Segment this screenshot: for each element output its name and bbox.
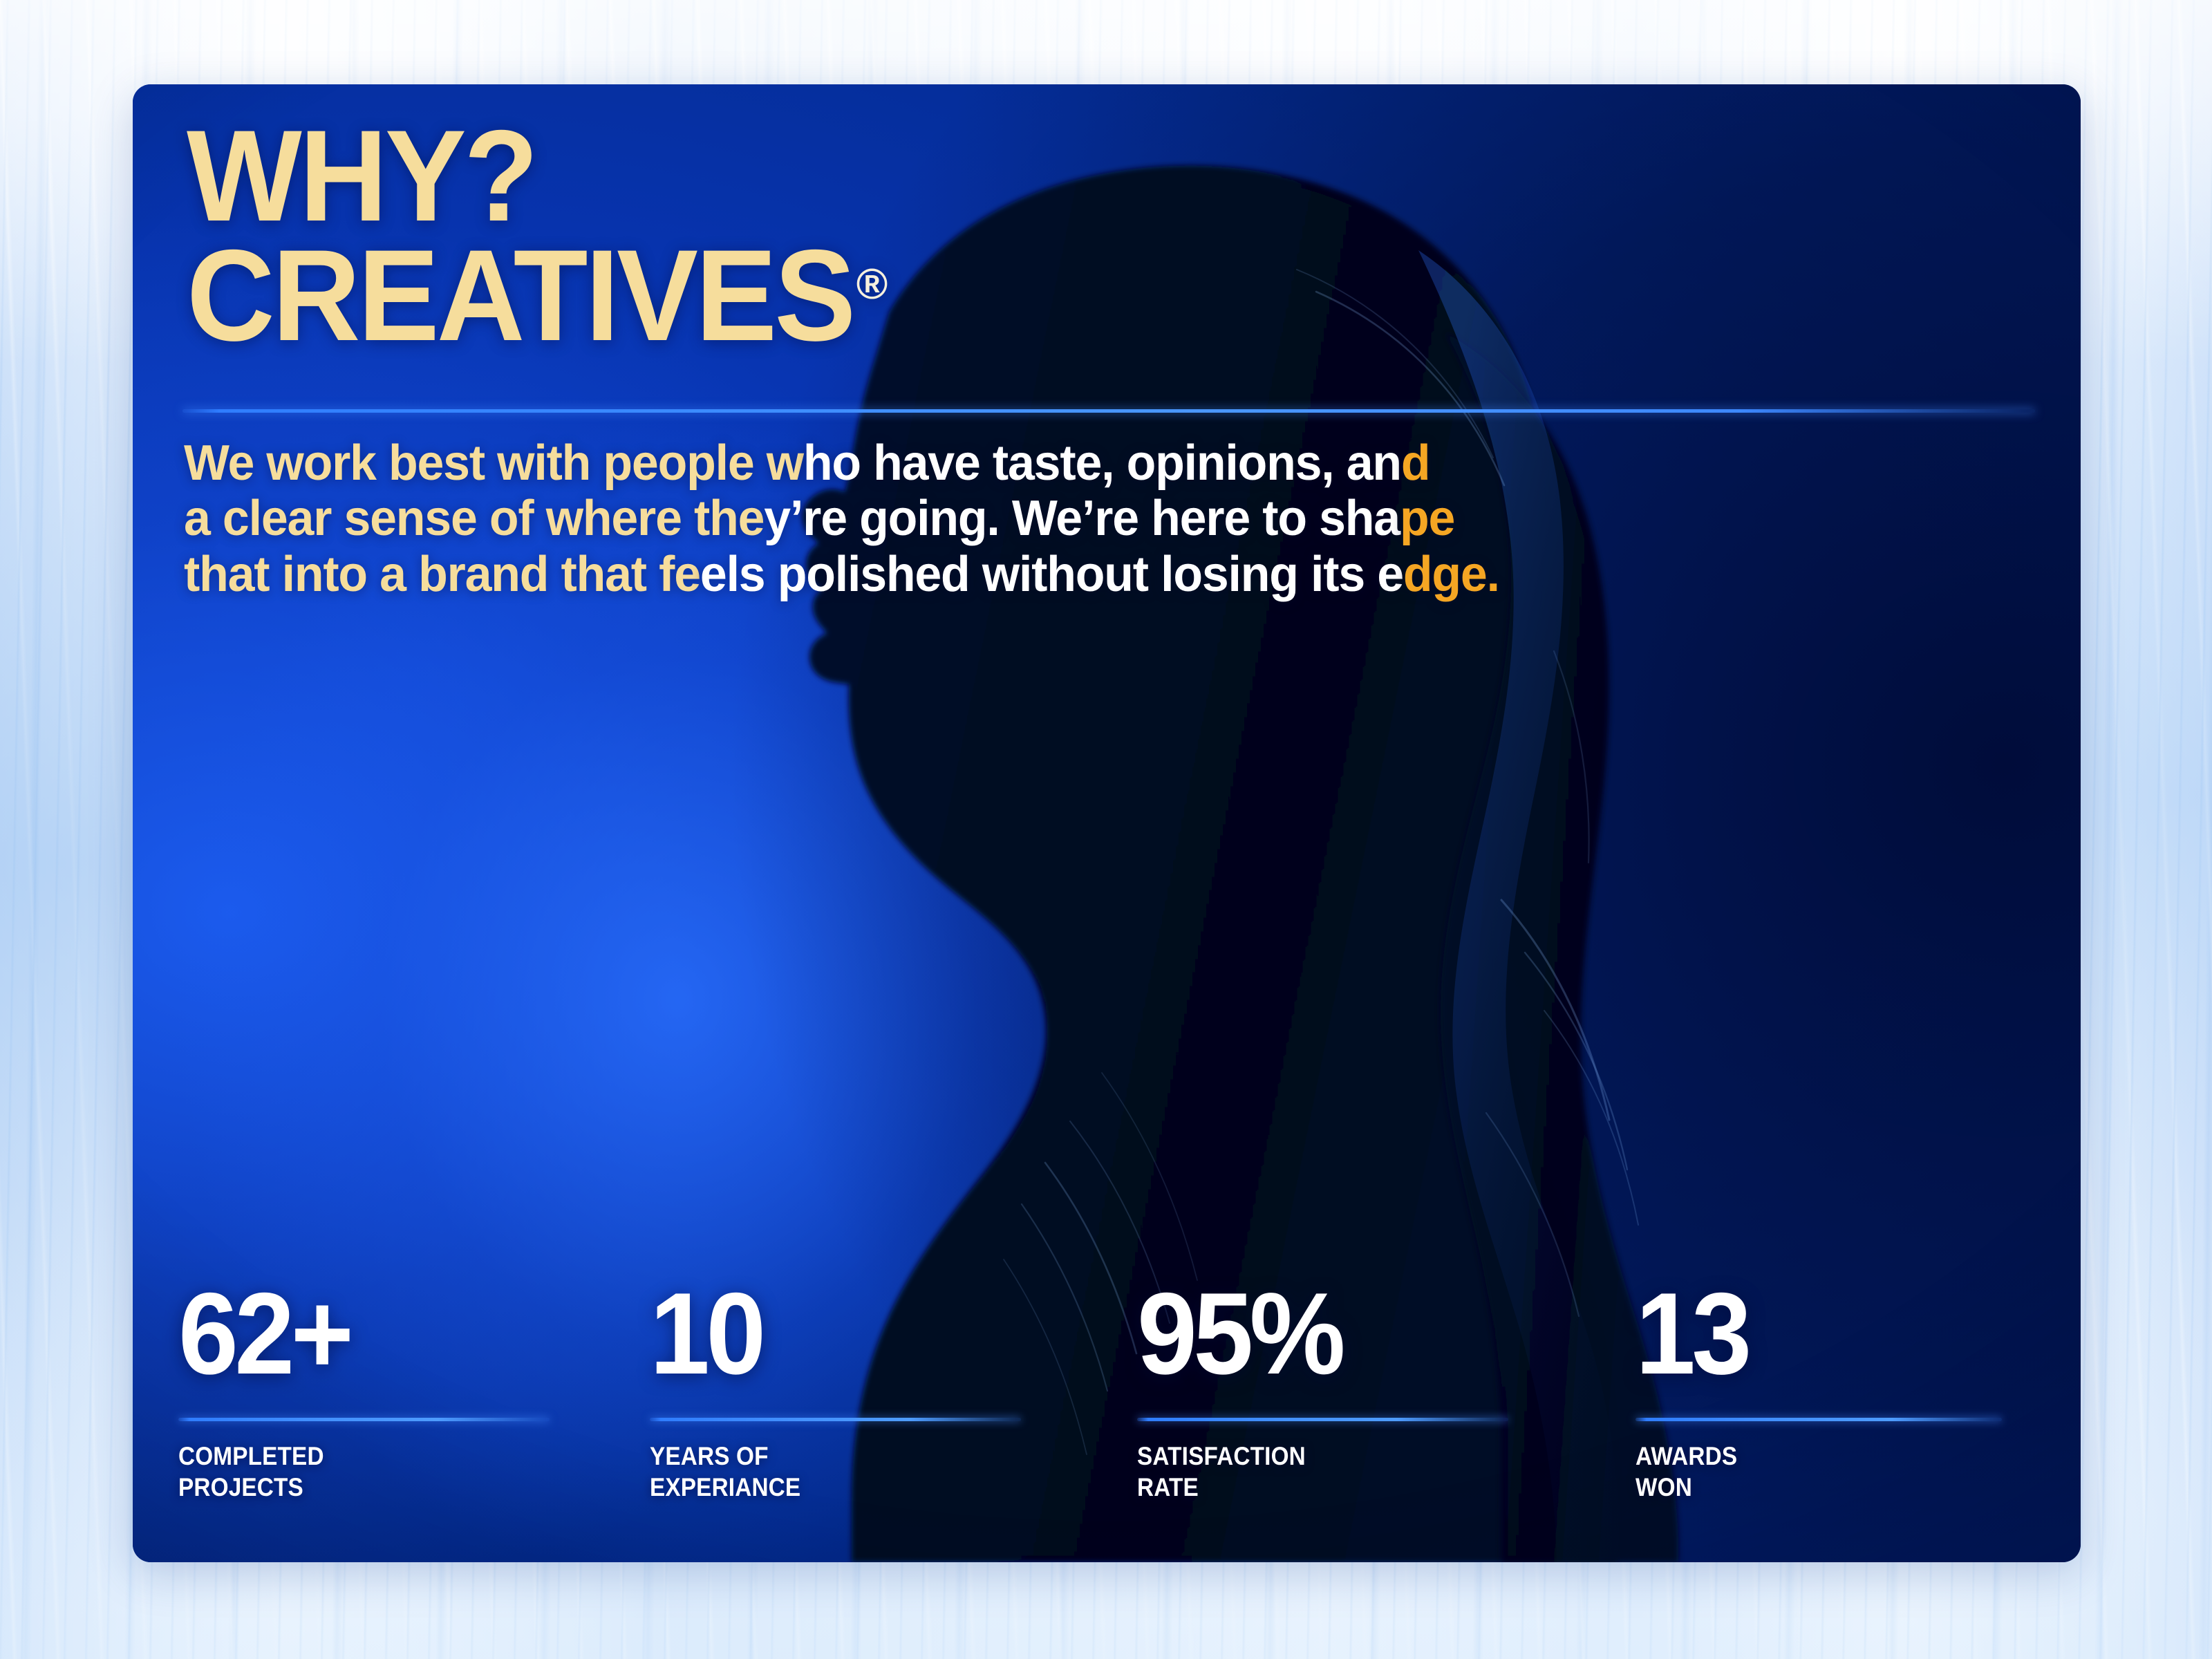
stat-divider: [1137, 1418, 1508, 1421]
stat-value: 10: [650, 1275, 1103, 1391]
registered-trademark-icon: ®: [856, 263, 888, 306]
stat-item-awards-won: 13 AWARDS WON: [1635, 1275, 2039, 1503]
headline-line-1: WHY?: [187, 84, 887, 236]
stat-value: 13: [1635, 1275, 2011, 1391]
hero-card: WHY? CREATIVES® We work best with people…: [133, 84, 2081, 1562]
stat-label: SATISFACTION RATE: [1137, 1441, 1585, 1503]
stat-label: COMPLETED PROJECTS: [178, 1441, 602, 1503]
card-content: WHY? CREATIVES® We work best with people…: [133, 84, 2081, 1562]
headline-line-2: CREATIVES®: [187, 236, 887, 355]
paragraph-line: that into a brand that feels polished wi…: [184, 547, 1726, 602]
paragraph-segment-amber: pe: [1400, 491, 1454, 546]
paragraph-segment-white: ho have taste, opinions, an: [803, 435, 1401, 491]
stat-value: 95%: [1137, 1275, 1600, 1391]
paragraph-segment-amber: d: [1401, 435, 1430, 491]
page-root: WHY? CREATIVES® We work best with people…: [0, 0, 2212, 1659]
paragraph-segment-gold: a clear sense of where the: [184, 491, 764, 546]
paragraph-line: We work best with people who have taste,…: [184, 435, 1726, 491]
stats-row: 62+ COMPLETED PROJECTS 10 YEARS OF EXPER…: [178, 1275, 2039, 1503]
stat-divider: [650, 1418, 1021, 1421]
paragraph-segment-amber: dge.: [1403, 547, 1499, 602]
headline-divider: [182, 409, 2035, 413]
stat-item-completed-projects: 62+ COMPLETED PROJECTS: [178, 1275, 650, 1503]
headline-line-2-text: CREATIVES: [187, 223, 853, 368]
stat-item-satisfaction-rate: 95% SATISFACTION RATE: [1137, 1275, 1635, 1503]
stat-value: 62+: [178, 1275, 617, 1391]
stat-item-years-of-experiance: 10 YEARS OF EXPERIANCE: [650, 1275, 1138, 1503]
stat-label: AWARDS WON: [1635, 1441, 1999, 1503]
paragraph-segment-white: y’re going. We’re here to sha: [764, 491, 1400, 546]
stat-divider: [178, 1418, 550, 1421]
stat-label: YEARS OF EXPERIANCE: [650, 1441, 1089, 1503]
paragraph-segment-gold: We work best with people w: [184, 435, 803, 491]
paragraph-segment-white: els polished without losing its e: [700, 547, 1403, 602]
intro-paragraph: We work best with people who have taste,…: [184, 435, 1726, 602]
paragraph-line: a clear sense of where they’re going. We…: [184, 491, 1726, 546]
paragraph-segment-gold: that into a brand that fe: [184, 547, 700, 602]
page-title: WHY? CREATIVES®: [187, 84, 887, 355]
stat-divider: [1635, 1418, 2002, 1421]
